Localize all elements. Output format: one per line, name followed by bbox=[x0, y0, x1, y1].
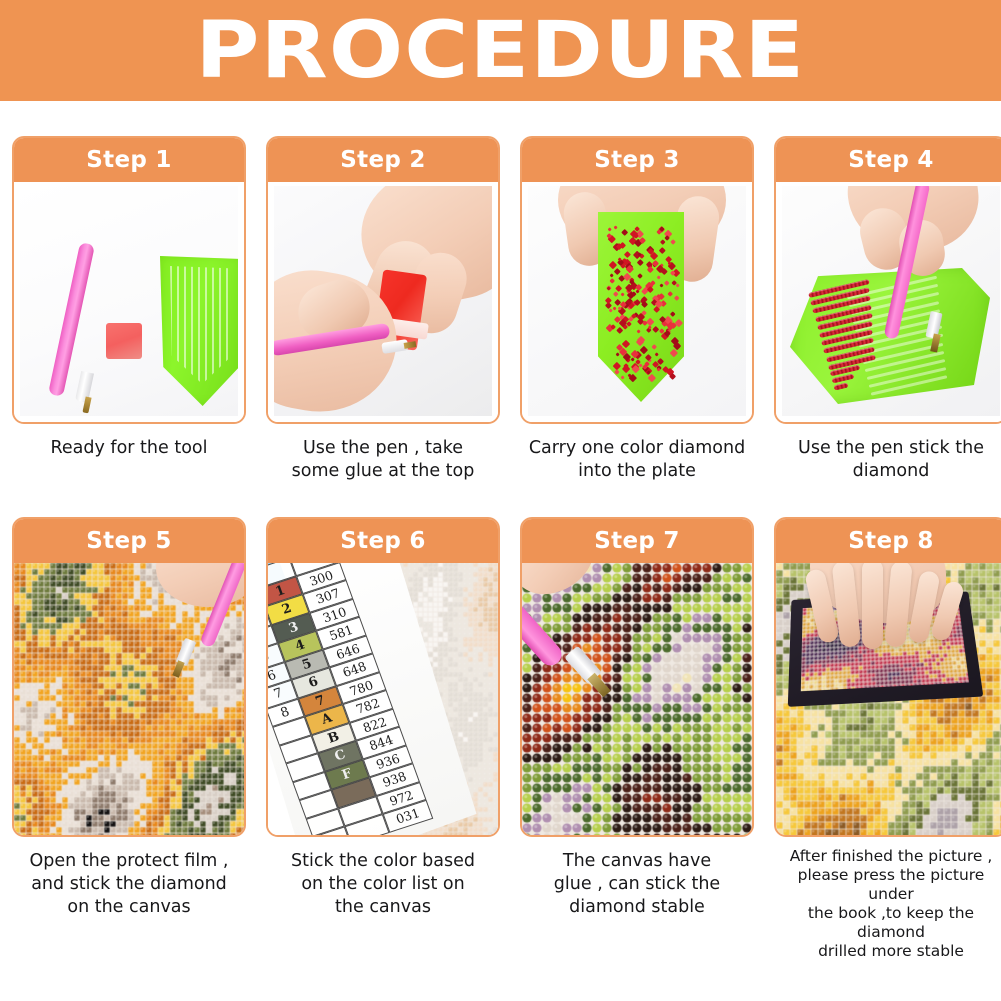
step-card-7[interactable]: Step 7 bbox=[520, 517, 754, 837]
bead-closeup-photo bbox=[522, 563, 752, 835]
step-header-3: Step 3 bbox=[522, 138, 752, 182]
step-header-8: Step 8 bbox=[776, 519, 1001, 563]
diamond-bead-canvas bbox=[522, 563, 752, 835]
step-caption-7: The canvas have glue , can stick the dia… bbox=[520, 850, 754, 919]
step-header-6: Step 6 bbox=[268, 519, 498, 563]
step-caption-1: Ready for the tool bbox=[12, 437, 246, 460]
pressing-book-photo bbox=[776, 563, 1001, 835]
sunflower-mosaic-photo bbox=[14, 563, 244, 835]
steps-row-bottom: Step 5 Open the protect film , and stick… bbox=[12, 517, 989, 961]
step-card-1[interactable]: Step 1 bbox=[12, 136, 246, 424]
step-photo-8 bbox=[776, 563, 1001, 835]
step-cell-5: Step 5 Open the protect film , and stick… bbox=[12, 517, 246, 961]
step-caption-2: Use the pen , take some glue at the top bbox=[266, 437, 500, 483]
steps-grid: Step 1 Ready for bbox=[0, 136, 1001, 961]
step-photo-5 bbox=[14, 563, 244, 835]
step-cell-1: Step 1 Ready for bbox=[12, 136, 246, 483]
color-chart-photo: 121300323074331054581656467664887780A782… bbox=[268, 563, 498, 835]
page-title: PROCEDURE bbox=[196, 12, 806, 90]
step-caption-8: After finished the picture , please pres… bbox=[774, 847, 1001, 961]
step-photo-bleed-8 bbox=[776, 563, 1001, 835]
pen-taking-glue-photo bbox=[274, 186, 492, 416]
step-card-2[interactable]: Step 2 bbox=[266, 136, 500, 424]
page-header-banner: PROCEDURE bbox=[0, 0, 1001, 101]
step-photo-bleed-5 bbox=[14, 563, 244, 835]
step-cell-2: Step 2 bbox=[266, 136, 500, 483]
tool-kit-photo bbox=[20, 186, 238, 416]
pen-picking-diamond-photo bbox=[782, 186, 1000, 416]
red-diamonds-group bbox=[602, 220, 680, 386]
step-caption-6: Stick the color based on the color list … bbox=[266, 850, 500, 919]
step-card-4[interactable]: Step 4 bbox=[774, 136, 1001, 424]
step-photo-bleed-7 bbox=[522, 563, 752, 835]
step-photo-2 bbox=[268, 182, 498, 422]
step-cell-6: Step 6 121300323074331054581656467664887… bbox=[266, 517, 500, 961]
step-card-6[interactable]: Step 6 121300323074331054581656467664887… bbox=[266, 517, 500, 837]
step-caption-3: Carry one color diamond into the plate bbox=[520, 437, 754, 483]
step-photo-3 bbox=[522, 182, 752, 422]
step-caption-4: Use the pen stick the diamond bbox=[774, 437, 1001, 483]
step-card-8[interactable]: Step 8 bbox=[774, 517, 1001, 837]
step-header-4: Step 4 bbox=[776, 138, 1001, 182]
step-photo-bleed-6: 121300323074331054581656467664887780A782… bbox=[268, 563, 498, 835]
step-header-5: Step 5 bbox=[14, 519, 244, 563]
step-cell-3: Step 3 Carry one color diamond bbox=[520, 136, 754, 483]
step-caption-5: Open the protect film , and stick the di… bbox=[12, 850, 246, 919]
step-cell-4: Step 4 bbox=[774, 136, 1001, 483]
step-photo-6: 121300323074331054581656467664887780A782… bbox=[268, 563, 498, 835]
step-cell-7: Step 7 The canvas have glue , can stick … bbox=[520, 517, 754, 961]
step-cell-8: Step 8 After finished the picture , plea… bbox=[774, 517, 1001, 961]
steps-row-top: Step 1 Ready for bbox=[12, 136, 989, 483]
step-card-3[interactable]: Step 3 bbox=[520, 136, 754, 424]
step-photo-frame-3 bbox=[528, 186, 746, 416]
step-header-7: Step 7 bbox=[522, 519, 752, 563]
step-photo-7 bbox=[522, 563, 752, 835]
step-header-1: Step 1 bbox=[14, 138, 244, 182]
glue-square-icon bbox=[106, 323, 142, 359]
step-photo-frame-4 bbox=[782, 186, 1000, 416]
step-card-5[interactable]: Step 5 bbox=[12, 517, 246, 837]
step-header-2: Step 2 bbox=[268, 138, 498, 182]
step-photo-4 bbox=[776, 182, 1001, 422]
finger-shape bbox=[862, 563, 883, 649]
step-photo-frame-2 bbox=[274, 186, 492, 416]
step-photo-1 bbox=[14, 182, 244, 422]
tray-with-diamonds-photo bbox=[528, 186, 746, 416]
step-photo-frame-1 bbox=[20, 186, 238, 416]
